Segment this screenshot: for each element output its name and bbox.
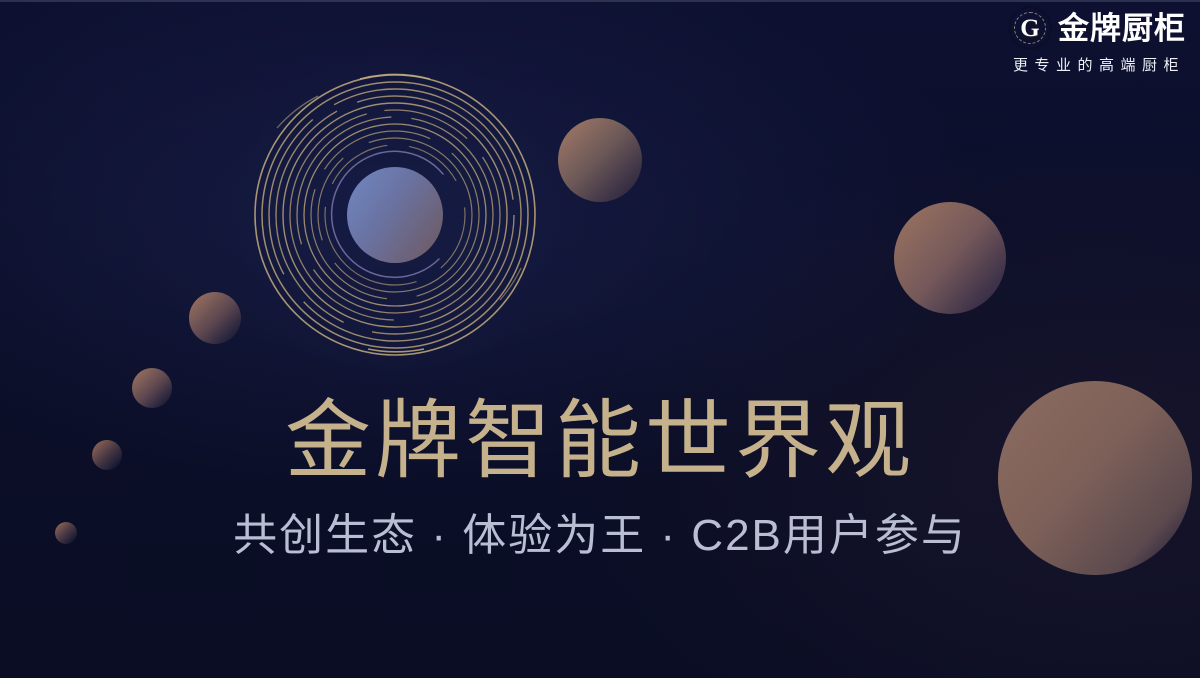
logo-mark-letter: G — [1020, 16, 1039, 41]
poster-canvas: G 金牌厨柜 更专业的高端厨柜 金牌智能世界观 共创生态 · 体验为王 · C2… — [0, 0, 1200, 678]
background-gradient — [0, 0, 1200, 678]
gold-medallion-g-icon: G — [1010, 8, 1050, 48]
logo-wordmark: 金牌厨柜 — [1058, 13, 1186, 44]
logo-tagline: 更专业的高端厨柜 — [1013, 54, 1186, 75]
top-edge-highlight — [0, 0, 1200, 2]
page-title: 金牌智能世界观 — [0, 398, 1200, 484]
headline-block: 金牌智能世界观 共创生态 · 体验为王 · C2B用户参与 — [0, 398, 1200, 558]
logo-lockup: G 金牌厨柜 — [1010, 8, 1186, 48]
page-subtitle: 共创生态 · 体验为王 · C2B用户参与 — [0, 514, 1200, 558]
brand-logo[interactable]: G 金牌厨柜 更专业的高端厨柜 — [1010, 8, 1186, 75]
